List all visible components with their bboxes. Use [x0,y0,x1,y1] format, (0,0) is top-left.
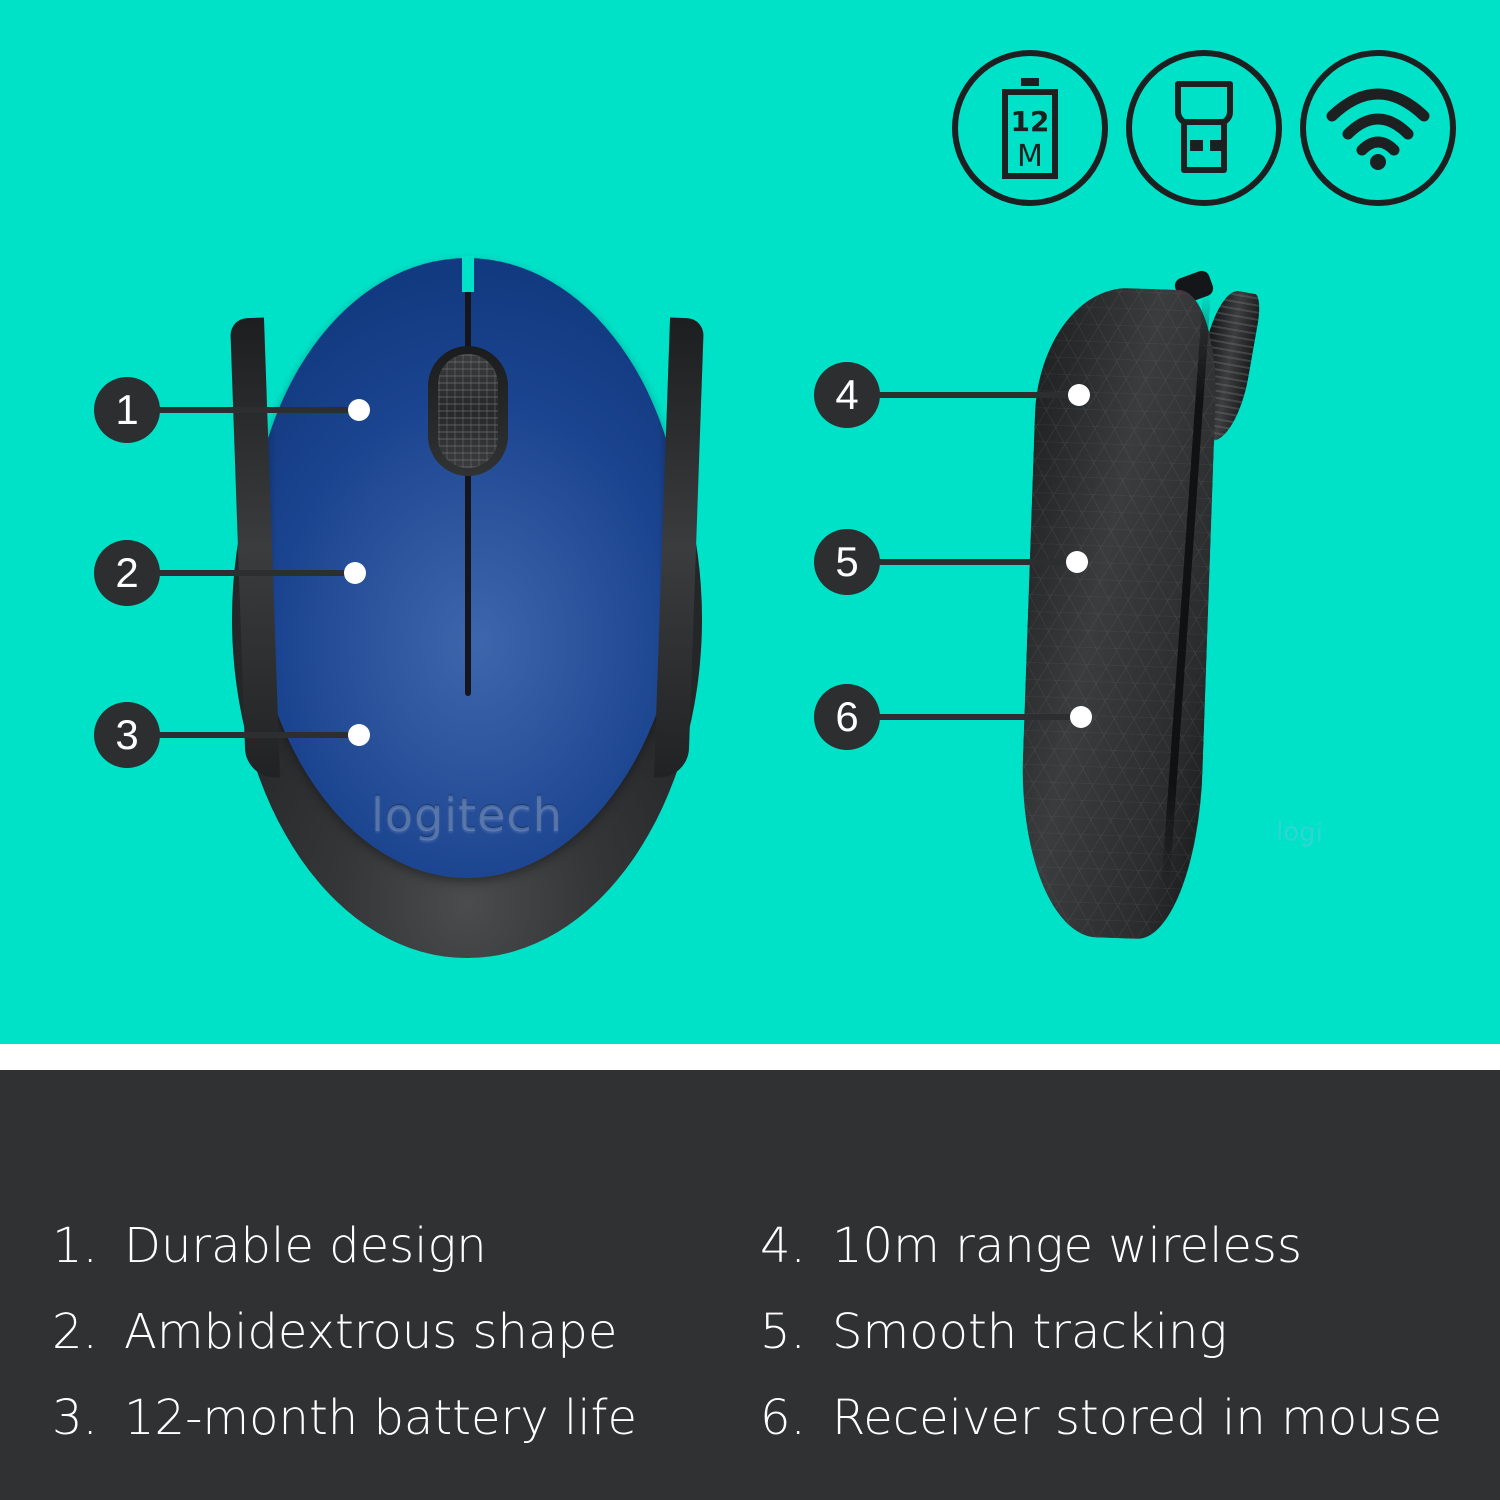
feature-column-right: 4. 10m range wireless 5. Smooth tracking… [760,1218,1480,1476]
feature-column-left: 1. Durable design 2. Ambidextrous shape … [52,1218,752,1476]
feature-item-1-label: Durable design [124,1218,487,1274]
feature-item-4: 4. 10m range wireless [760,1218,1480,1274]
feature-item-3: 3. 12-month battery life [52,1390,752,1446]
feature-item-1-number: 1. [52,1218,124,1274]
callout-6[interactable]: 6 [814,684,1092,750]
wireless-signal-icon [1326,86,1430,170]
feature-item-2-number: 2. [52,1304,124,1360]
callout-6-number: 6 [814,684,880,750]
feature-item-4-number: 4. [760,1218,832,1274]
mouse-button-split-line [465,266,471,696]
feature-item-3-label: 12-month battery life [124,1390,637,1446]
callout-2-number: 2 [94,540,160,606]
callout-3-leader-line [157,732,357,738]
scroll-wheel [438,354,498,468]
wireless-badge [1300,50,1456,206]
mouse-top-view: logitech [232,258,702,958]
callout-2-target-dot [344,562,366,584]
usb-receiver-icon [1164,78,1244,178]
feature-item-2: 2. Ambidextrous shape [52,1304,752,1360]
hero-panel: 12 M [0,0,1500,1044]
callout-2-leader-line [157,570,353,576]
feature-item-5-number: 5. [760,1304,832,1360]
callout-5-number: 5 [814,529,880,595]
battery-icon: 12 M [994,76,1066,180]
feature-item-6-label: Receiver stored in mouse [832,1390,1442,1446]
callout-3-number: 3 [94,702,160,768]
callout-4[interactable]: 4 [814,362,1090,428]
callout-5-leader-line [877,559,1075,565]
feature-item-1: 1. Durable design [52,1218,752,1274]
section-separator [0,1044,1500,1070]
callout-5[interactable]: 5 [814,529,1088,595]
feature-item-4-label: 10m range wireless [832,1218,1302,1274]
battery-badge: 12 M [952,50,1108,206]
feature-item-6-number: 6. [760,1390,832,1446]
feature-item-5: 5. Smooth tracking [760,1304,1480,1360]
callout-2[interactable]: 2 [94,540,366,606]
feature-item-3-number: 3. [52,1390,124,1446]
product-infographic: 12 M [0,0,1500,1500]
callout-4-target-dot [1068,384,1090,406]
mouse-top-notch [462,256,474,292]
callout-1-target-dot [348,399,370,421]
callout-1-number: 1 [94,377,160,443]
callout-4-leader-line [877,392,1077,398]
battery-months-value: 12 [1011,105,1050,138]
receiver-badge [1126,50,1282,206]
battery-months-unit: M [1017,139,1043,174]
feature-item-6: 6. Receiver stored in mouse [760,1390,1480,1446]
feature-list-footer: 1. Durable design 2. Ambidextrous shape … [0,1070,1500,1500]
callout-6-leader-line [877,714,1079,720]
callout-4-number: 4 [814,362,880,428]
logitech-logo-side: logi [1275,817,1334,849]
feature-badge-row: 12 M [952,50,1456,206]
callout-3-target-dot [348,724,370,746]
feature-item-2-label: Ambidextrous shape [124,1304,617,1360]
callout-6-target-dot [1070,706,1092,728]
callout-5-target-dot [1066,551,1088,573]
feature-item-5-label: Smooth tracking [832,1304,1227,1360]
callout-3[interactable]: 3 [94,702,370,768]
callout-1-leader-line [157,407,357,413]
